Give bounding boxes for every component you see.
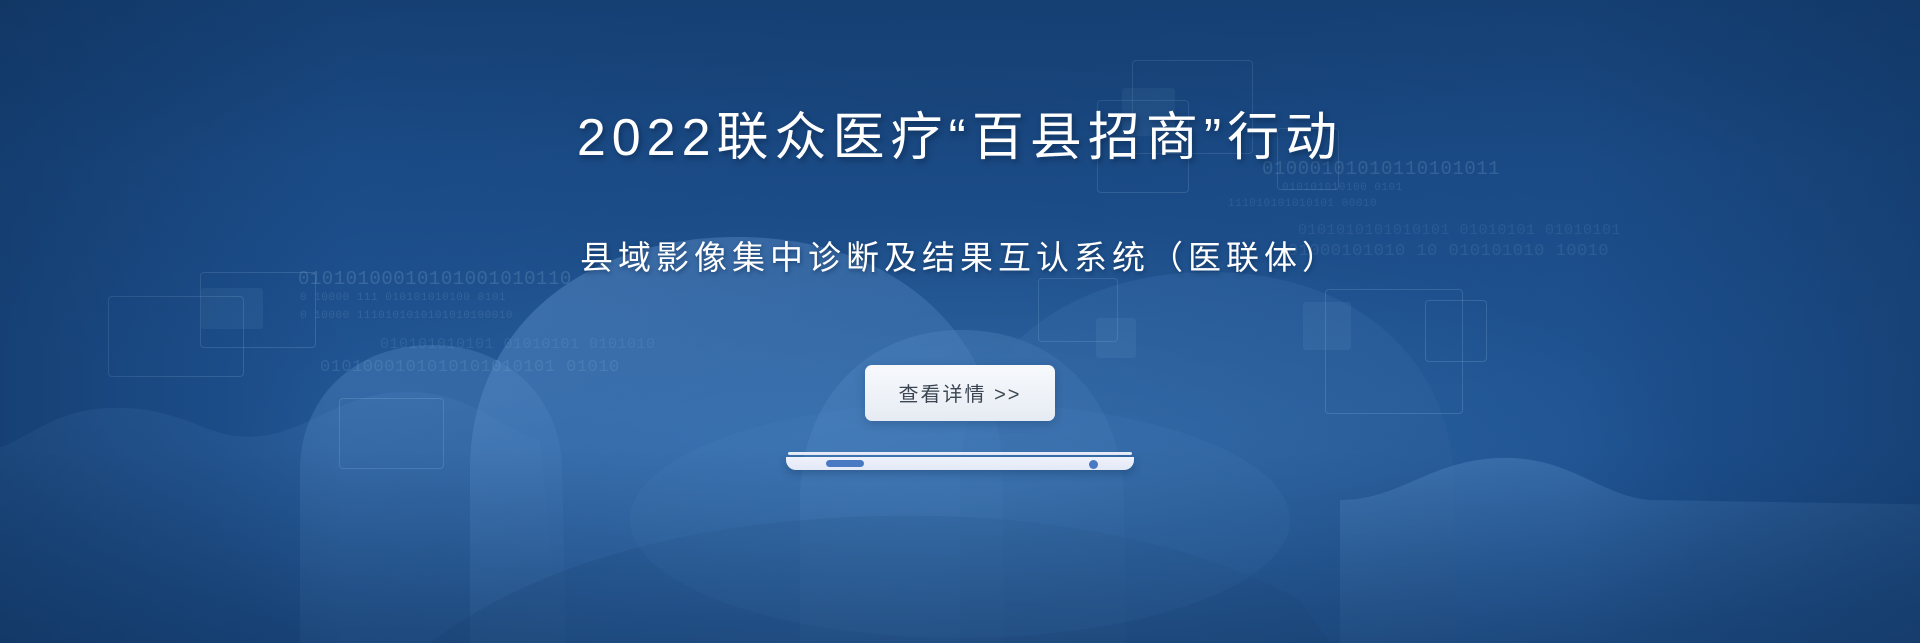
camera-dot-icon — [1089, 460, 1098, 469]
tablet-edge-line — [788, 452, 1132, 455]
view-details-button[interactable]: 查看详情 >> — [865, 365, 1056, 421]
banner-title: 2022联众医疗“百县招商”行动 — [577, 112, 1343, 164]
banner-subtitle: 县域影像集中诊断及结果互认系统（医联体） — [580, 241, 1340, 274]
promo-banner: 01010100010101001010110 0 10000 111 0101… — [0, 0, 1920, 643]
banner-content: 2022联众医疗“百县招商”行动 县域影像集中诊断及结果互认系统（医联体） 查看… — [0, 0, 1920, 643]
cta-container: 查看详情 >> — [865, 365, 1056, 421]
speaker-slot-icon — [826, 460, 864, 467]
tablet-base-graphic — [786, 452, 1134, 474]
